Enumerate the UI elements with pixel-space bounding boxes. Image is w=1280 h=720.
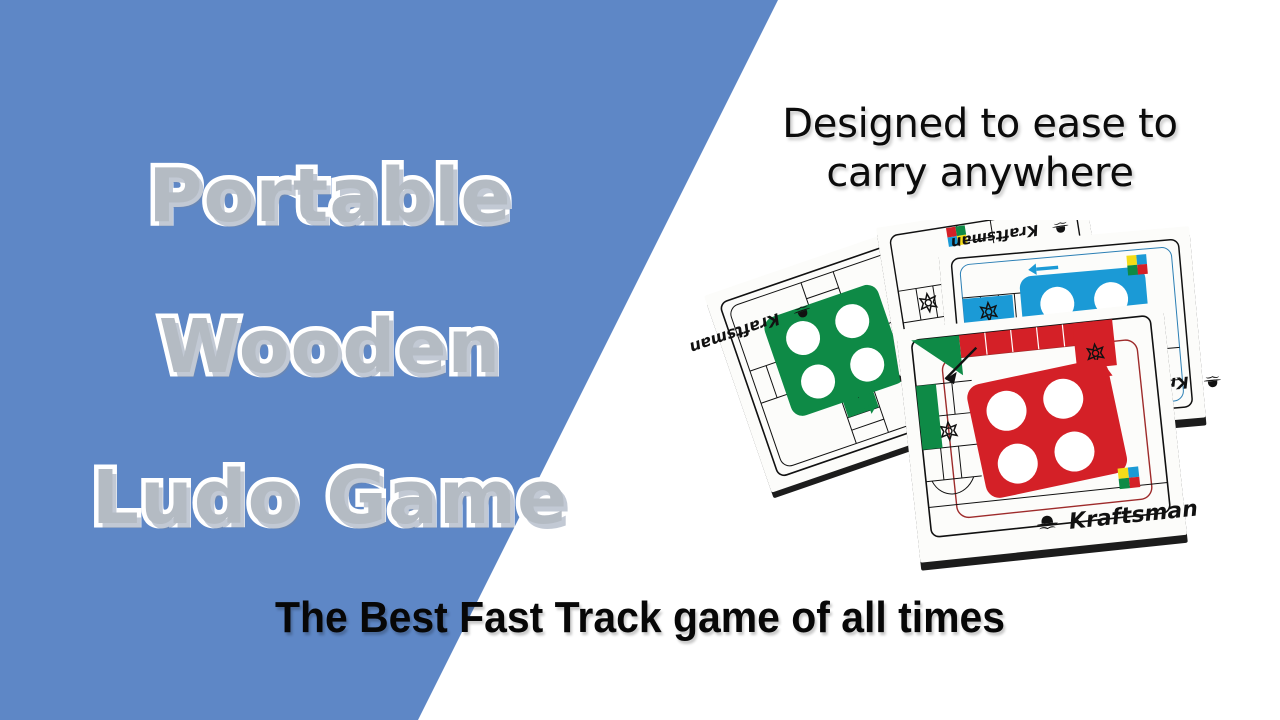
headline-line-2: Wooden bbox=[0, 310, 660, 385]
tagline: The Best Fast Track game of all times bbox=[45, 596, 1235, 640]
page-title: Portable Wooden Ludo Game bbox=[0, 84, 660, 612]
product-photo: Kraftsman bbox=[690, 220, 1230, 580]
subtitle-line-1: Designed to ease to bbox=[700, 100, 1260, 149]
board-red: Kraftsman bbox=[896, 301, 1201, 571]
poster-canvas: Portable Wooden Ludo Game Designed to ea… bbox=[0, 0, 1280, 720]
headline-line-1: Portable bbox=[0, 159, 660, 234]
subtitle-line-2: carry anywhere bbox=[700, 149, 1260, 198]
subtitle: Designed to ease to carry anywhere bbox=[700, 100, 1260, 198]
headline-line-3: Ludo Game bbox=[0, 461, 660, 536]
